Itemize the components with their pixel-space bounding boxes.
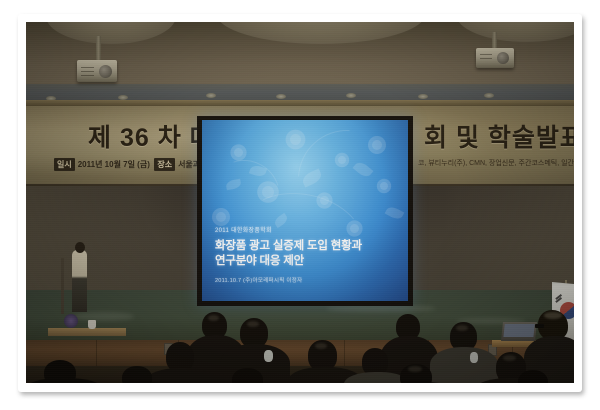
paper-cup	[88, 320, 96, 329]
banner-sponsor-list: 코, 뷰티누리(주), CMN, 장업신문, 주간코스메틱, 일간보사	[418, 158, 574, 168]
shirt-collar	[264, 350, 273, 362]
projector-vent	[81, 71, 94, 72]
hair-highlight	[208, 315, 219, 321]
chalk-smudge	[326, 305, 436, 312]
banner-date-tag: 일시	[54, 158, 75, 171]
projector-vent	[480, 58, 492, 59]
projector-vent	[480, 54, 492, 55]
hair-highlight	[315, 343, 327, 349]
downlight	[206, 93, 216, 98]
standing-attendee-body	[72, 250, 87, 312]
projector-lens-left	[99, 65, 112, 78]
projection-screen: 2011 대한화장품학회 화장품 광고 실증제 도입 현황과 연구분야 대응 제…	[202, 120, 408, 301]
conference-photo: 제 36 차 대 회 및 학술발표대회 일시2011년 10월 7일 (금) 장…	[26, 22, 574, 383]
ceiling-cove-right	[456, 22, 574, 42]
shirt-collar	[470, 352, 478, 363]
slide-text-block: 2011 대한화장품학회 화장품 광고 실증제 도입 현황과 연구분야 대응 제…	[215, 225, 400, 284]
projector-vent	[81, 75, 94, 76]
slide-footer: 2011.10.7 (주)아모레퍼시픽 이정자	[215, 276, 400, 284]
head	[232, 368, 263, 383]
hair-highlight	[408, 366, 422, 372]
projection-screen-frame: 2011 대한화장품학회 화장품 광고 실증제 도입 현황과 연구분야 대응 제…	[197, 116, 413, 306]
banner-title-right: 회 및 학술발표대회	[424, 118, 574, 154]
flower-vase	[64, 314, 78, 328]
projector-vent	[81, 67, 94, 68]
slide-kicker: 2011 대한화장품학회	[215, 225, 400, 234]
banner-place-tag: 장소	[154, 158, 175, 171]
projector-lens-right	[497, 52, 509, 64]
eyeglasses-icon	[535, 324, 544, 328]
projector-mount-pole-left	[96, 36, 101, 62]
slide-title-line-2: 연구분야 대응 제안	[215, 254, 400, 269]
chalk-smudge	[74, 312, 134, 321]
table-left	[48, 328, 126, 336]
ceiling-cove-left	[46, 22, 176, 44]
hair-highlight	[247, 321, 259, 327]
laptop-right	[501, 322, 537, 341]
laptop-screen	[503, 324, 534, 337]
banner-date-value: 2011년 10월 7일 (금)	[78, 160, 150, 169]
downlight	[346, 93, 356, 98]
downlight	[484, 93, 494, 98]
shoulders	[430, 347, 498, 383]
camera-tripod	[61, 258, 64, 314]
hair-highlight	[503, 355, 516, 361]
head	[122, 366, 152, 383]
standing-attendee-head	[75, 242, 85, 253]
hair-highlight	[544, 312, 562, 319]
banner-title-left: 제 36 차 대	[88, 118, 214, 154]
ceiling-cove-middle	[216, 22, 426, 44]
hair-highlight	[456, 325, 468, 331]
photo-frame: 제 36 차 대 회 및 학술발표대회 일시2011년 10월 7일 (금) 장…	[18, 14, 582, 392]
downlight	[276, 94, 286, 99]
downlight	[418, 94, 428, 99]
slide-title-line-1: 화장품 광고 실증제 도입 현황과	[215, 239, 400, 254]
